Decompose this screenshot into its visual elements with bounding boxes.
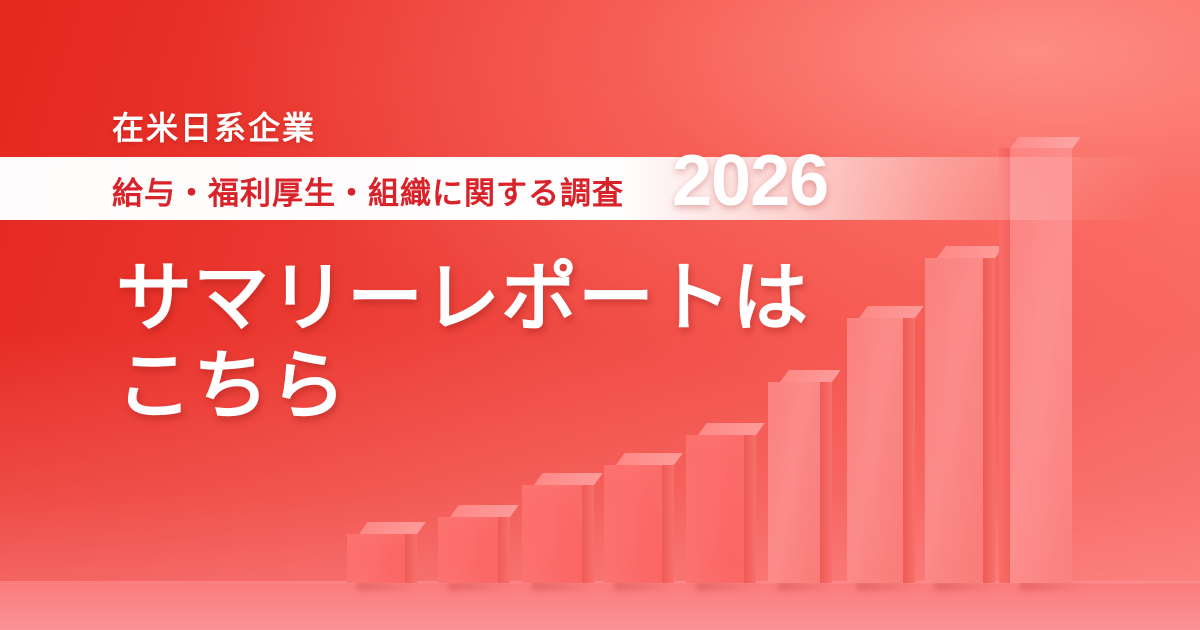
eyebrow-text: 在米日系企業 bbox=[112, 103, 316, 149]
bar-top-face bbox=[937, 246, 1004, 258]
bar-top-face bbox=[534, 473, 603, 485]
bar-front-face bbox=[522, 485, 582, 583]
bar-5 bbox=[686, 435, 744, 583]
bar-front-face bbox=[925, 258, 983, 583]
survey-subtitle: 給与・福利厚生・組織に関する調査 bbox=[112, 168, 624, 213]
bar-top-face bbox=[616, 453, 683, 465]
bar-2 bbox=[438, 517, 498, 583]
bar-side-face bbox=[582, 485, 594, 583]
bar-3 bbox=[522, 485, 582, 583]
page-title: サマリーレポートは こちら bbox=[116, 255, 809, 431]
bar-side-face bbox=[744, 435, 756, 583]
year-label: 2026 bbox=[672, 140, 828, 222]
bar-side-face bbox=[903, 318, 915, 583]
bar-top-face bbox=[859, 306, 924, 318]
bar-side-face bbox=[662, 465, 674, 583]
bar-top-face bbox=[450, 505, 519, 517]
bar-4 bbox=[604, 465, 662, 583]
bar-front-face bbox=[847, 318, 903, 583]
bar-8 bbox=[925, 258, 983, 583]
bar-front-face bbox=[347, 534, 405, 583]
bar-front-face bbox=[438, 517, 498, 583]
banner-canvas: 在米日系企業 給与・福利厚生・組織に関する調査 2026 サマリーレポートは こ… bbox=[0, 0, 1200, 630]
bar-top-face bbox=[359, 522, 426, 534]
bar-1 bbox=[347, 534, 405, 583]
bar-side-face bbox=[820, 382, 832, 583]
bar-front-face bbox=[686, 435, 744, 583]
bar-side-face bbox=[983, 258, 995, 583]
bar-front-face bbox=[604, 465, 662, 583]
bar-side-face bbox=[405, 534, 417, 583]
bar-side-face bbox=[498, 517, 510, 583]
bar-7 bbox=[847, 318, 903, 583]
